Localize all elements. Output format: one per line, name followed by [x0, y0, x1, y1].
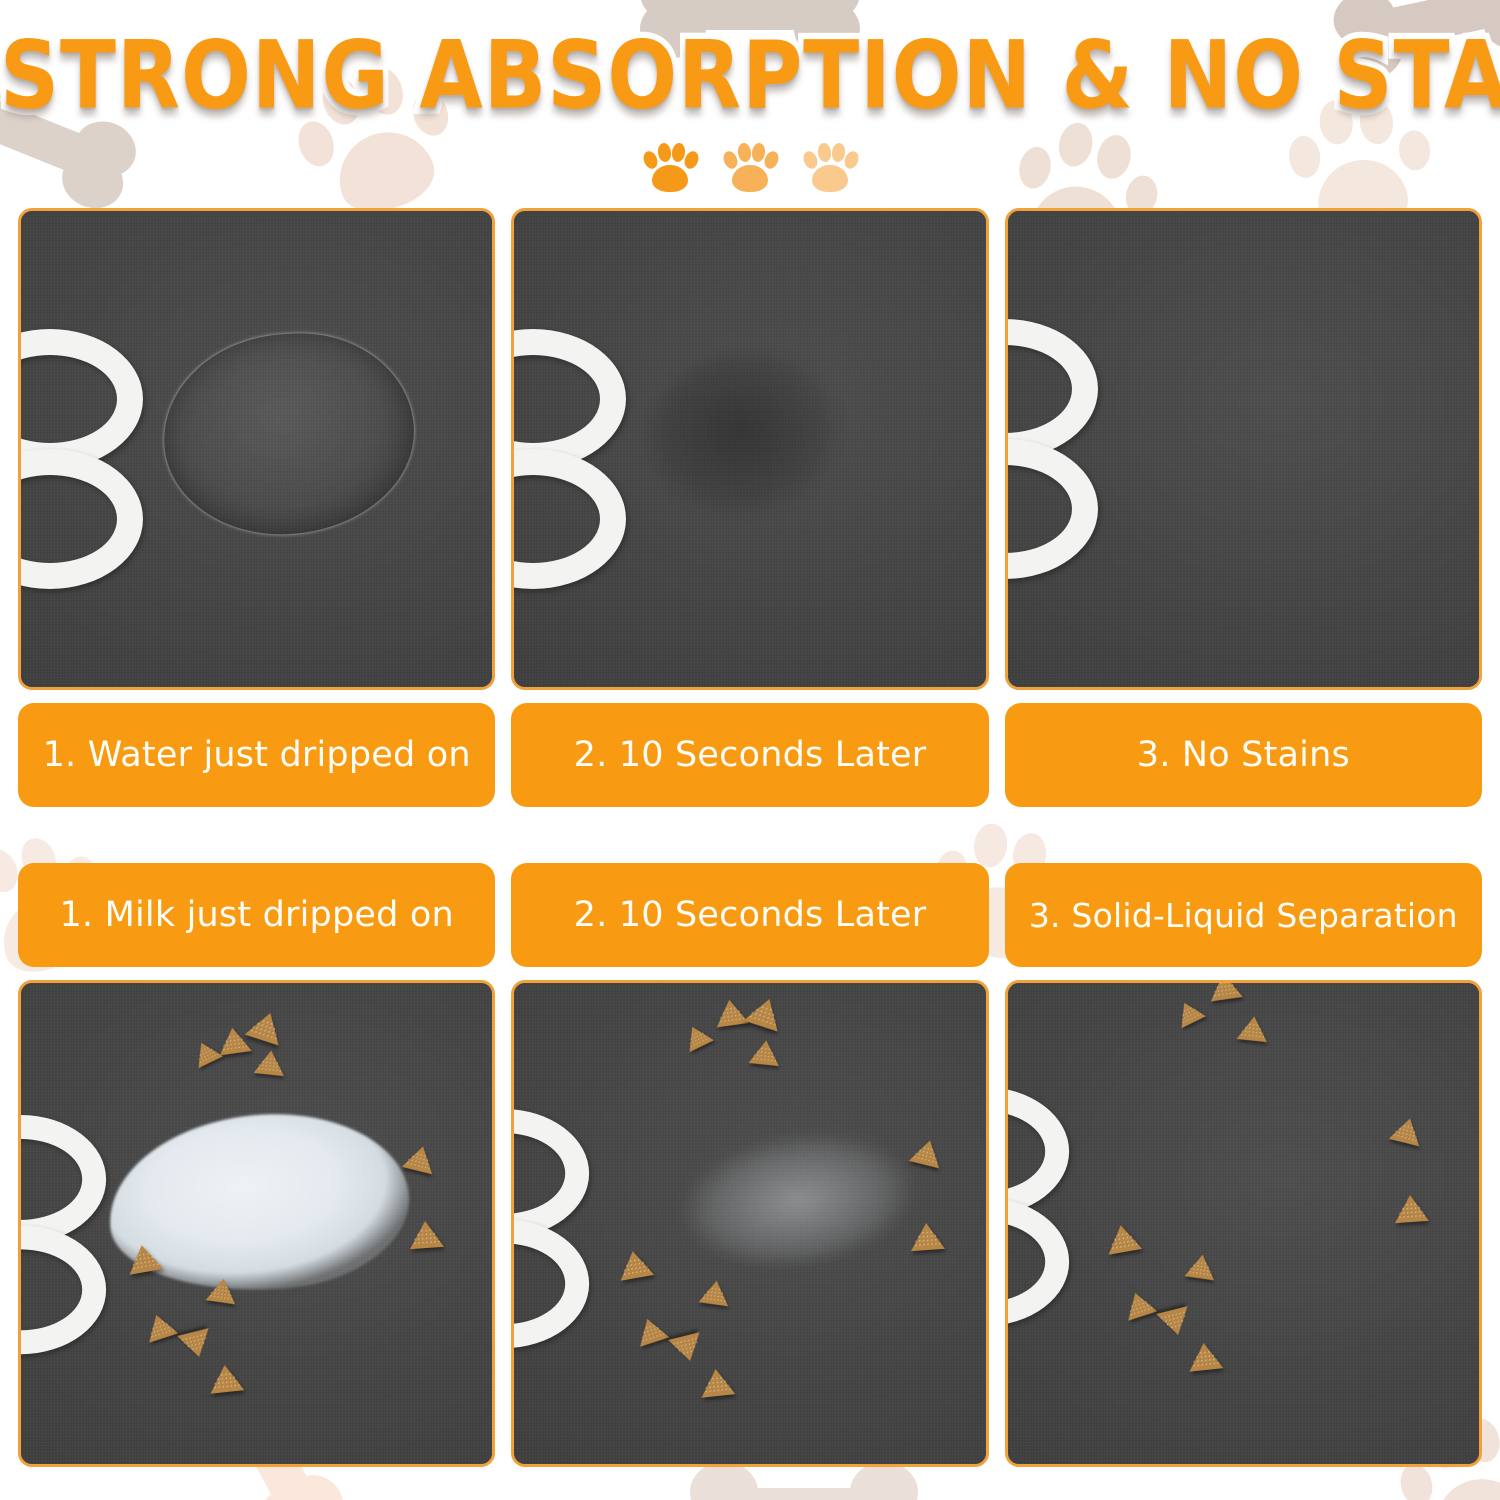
- milk-panel-1: 1. Milk just dripped on: [18, 863, 495, 1467]
- kibble-piece: [1184, 1253, 1217, 1281]
- kibble-piece: [408, 1220, 444, 1249]
- kibble-piece: [1186, 1341, 1223, 1371]
- kibble-piece: [909, 1222, 945, 1251]
- water-panel-2: 2. 10 Seconds Later: [511, 208, 988, 807]
- paw-print-icon-2: [721, 142, 779, 194]
- water-panel-3: 3. No Stains: [1005, 208, 1482, 807]
- kibble-piece: [714, 998, 750, 1028]
- mat-logo-b: [18, 329, 147, 591]
- kibble-piece: [1104, 1222, 1142, 1254]
- photo-milk-just-dripped: [18, 980, 495, 1467]
- mat-logo-b: [18, 1115, 110, 1356]
- photo-milk-solid-liquid-separation: [1005, 980, 1482, 1467]
- photo-water-no-stains: [1005, 208, 1482, 690]
- infographic-page: STRONG ABSORPTION & NO STAINS 1. Water j…: [0, 0, 1500, 1500]
- caption-water-step-1: 1. Water just dripped on: [18, 703, 495, 807]
- page-title-container: STRONG ABSORPTION & NO STAINS: [0, 22, 1500, 118]
- milk-panel-3: 3. Solid-Liquid Separation: [1005, 863, 1482, 1467]
- kibble-piece: [254, 1049, 287, 1076]
- caption-milk-step-1: 1. Milk just dripped on: [18, 863, 495, 967]
- caption-milk-step-3: 3. Solid-Liquid Separation: [1005, 863, 1482, 967]
- kibble-piece: [699, 1367, 736, 1397]
- paw-print-icon-1: [641, 142, 699, 194]
- kibble-piece: [206, 1277, 239, 1305]
- page-title: STRONG ABSORPTION & NO STAINS: [0, 22, 1500, 131]
- mat-logo-b: [511, 329, 630, 591]
- photo-water-just-dripped: [18, 208, 495, 690]
- kibble-piece: [749, 1039, 782, 1066]
- caption-milk-step-2: 2. 10 Seconds Later: [511, 863, 988, 967]
- test-panel-grid: 1. Water just dripped on 2. 10 Seconds L…: [18, 208, 1482, 1467]
- mat-logo-b: [1005, 1087, 1073, 1328]
- kibble-piece: [1393, 1194, 1429, 1223]
- milk-panel-2: 2. 10 Seconds Later: [511, 863, 988, 1467]
- kibble-piece: [699, 1279, 732, 1307]
- paw-divider: [0, 142, 1500, 198]
- mat-logo-b: [1005, 319, 1102, 581]
- paw-print-icon-3: [801, 142, 859, 194]
- mat-logo-b: [511, 1109, 593, 1350]
- kibble-piece: [208, 1363, 245, 1393]
- caption-water-step-3: 3. No Stains: [1005, 703, 1482, 807]
- water-panel-1: 1. Water just dripped on: [18, 208, 495, 807]
- kibble-piece: [1236, 1015, 1269, 1042]
- photo-water-10-seconds-later: [511, 208, 988, 690]
- photo-milk-10-seconds-later: [511, 980, 988, 1467]
- caption-water-step-2: 2. 10 Seconds Later: [511, 703, 988, 807]
- mat-surface: [1008, 983, 1479, 1464]
